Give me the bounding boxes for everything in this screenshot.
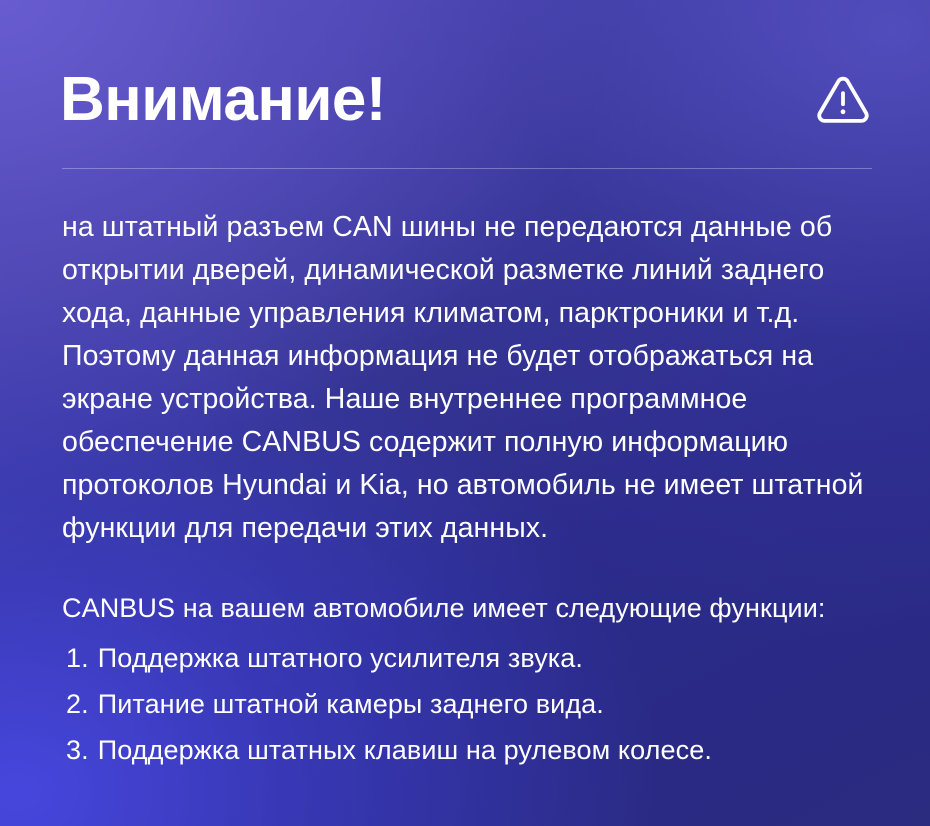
header-divider	[62, 168, 872, 169]
list-item-label: Поддержка штатных клавиш на рулевом коле…	[98, 727, 712, 773]
features-list: 1. Поддержка штатного усилителя звука. 2…	[62, 635, 878, 773]
notice-paragraph: на штатный разъем CAN шины не передаются…	[62, 206, 878, 550]
list-item-label: Поддержка штатного усилителя звука.	[98, 635, 583, 681]
warning-notice-screen: Внимание! на штатный разъем CAN шины не …	[0, 0, 930, 826]
list-item-number: 2.	[62, 681, 89, 727]
warning-triangle-icon	[814, 71, 878, 129]
list-item-label: Питание штатной камеры заднего вида.	[98, 681, 604, 727]
list-item: 2. Питание штатной камеры заднего вида.	[62, 681, 878, 727]
list-item-number: 1.	[62, 635, 89, 681]
features-intro: CANBUS на вашем автомобиле имеет следующ…	[62, 588, 878, 628]
notice-body: на штатный разъем CAN шины не передаются…	[62, 206, 878, 550]
list-item-number: 3.	[62, 727, 89, 773]
page-title: Внимание!	[60, 69, 386, 131]
notice-header: Внимание!	[60, 52, 878, 148]
list-item: 1. Поддержка штатного усилителя звука.	[62, 635, 878, 681]
list-item: 3. Поддержка штатных клавиш на рулевом к…	[62, 727, 878, 773]
features-section: CANBUS на вашем автомобиле имеет следующ…	[62, 588, 878, 773]
